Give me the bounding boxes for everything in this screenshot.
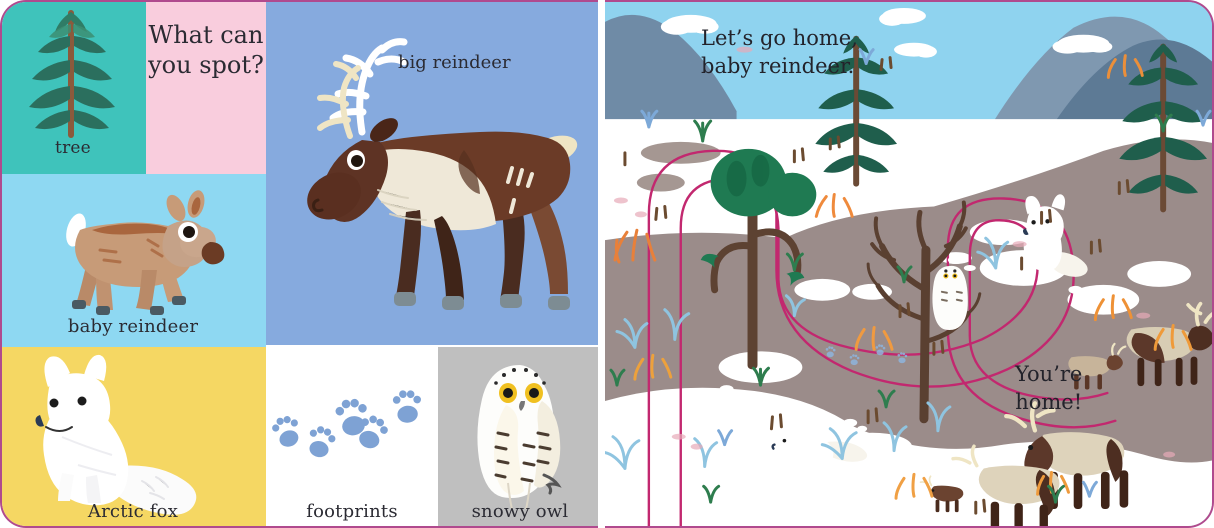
book-spread: tree What can you spot? [0,0,1214,528]
caption-big-reindeer: big reindeer [398,52,511,73]
snowy-owl-perched [932,266,967,330]
goal-label: You’re home! [1015,360,1082,416]
panel-question: What can you spot? [146,0,266,174]
panel-tree[interactable]: tree [0,0,146,174]
panel-big-reindeer[interactable]: big reindeer [266,0,598,345]
caption-arctic-fox: Arctic fox [0,501,266,522]
book-spine [598,0,605,528]
caption-footprints: footprints [266,501,438,522]
caption-tree: tree [0,138,146,158]
question-text: What can you spot? [146,20,266,80]
caption-baby-reindeer: baby reindeer [0,316,266,337]
left-page: tree What can you spot? [0,0,598,528]
right-page: Let’s go home, baby reindeer. You’re hom… [605,0,1214,528]
panel-arctic-fox[interactable]: Arctic fox [0,347,266,528]
panel-baby-reindeer[interactable]: baby reindeer [0,174,266,347]
panel-snowy-owl[interactable]: snowy owl [438,347,598,528]
panel-footprints[interactable]: footprints [266,347,438,528]
caption-snowy-owl: snowy owl [438,501,598,522]
arctic-scene [605,2,1212,526]
headline-text: Let’s go home, baby reindeer. [701,24,858,80]
